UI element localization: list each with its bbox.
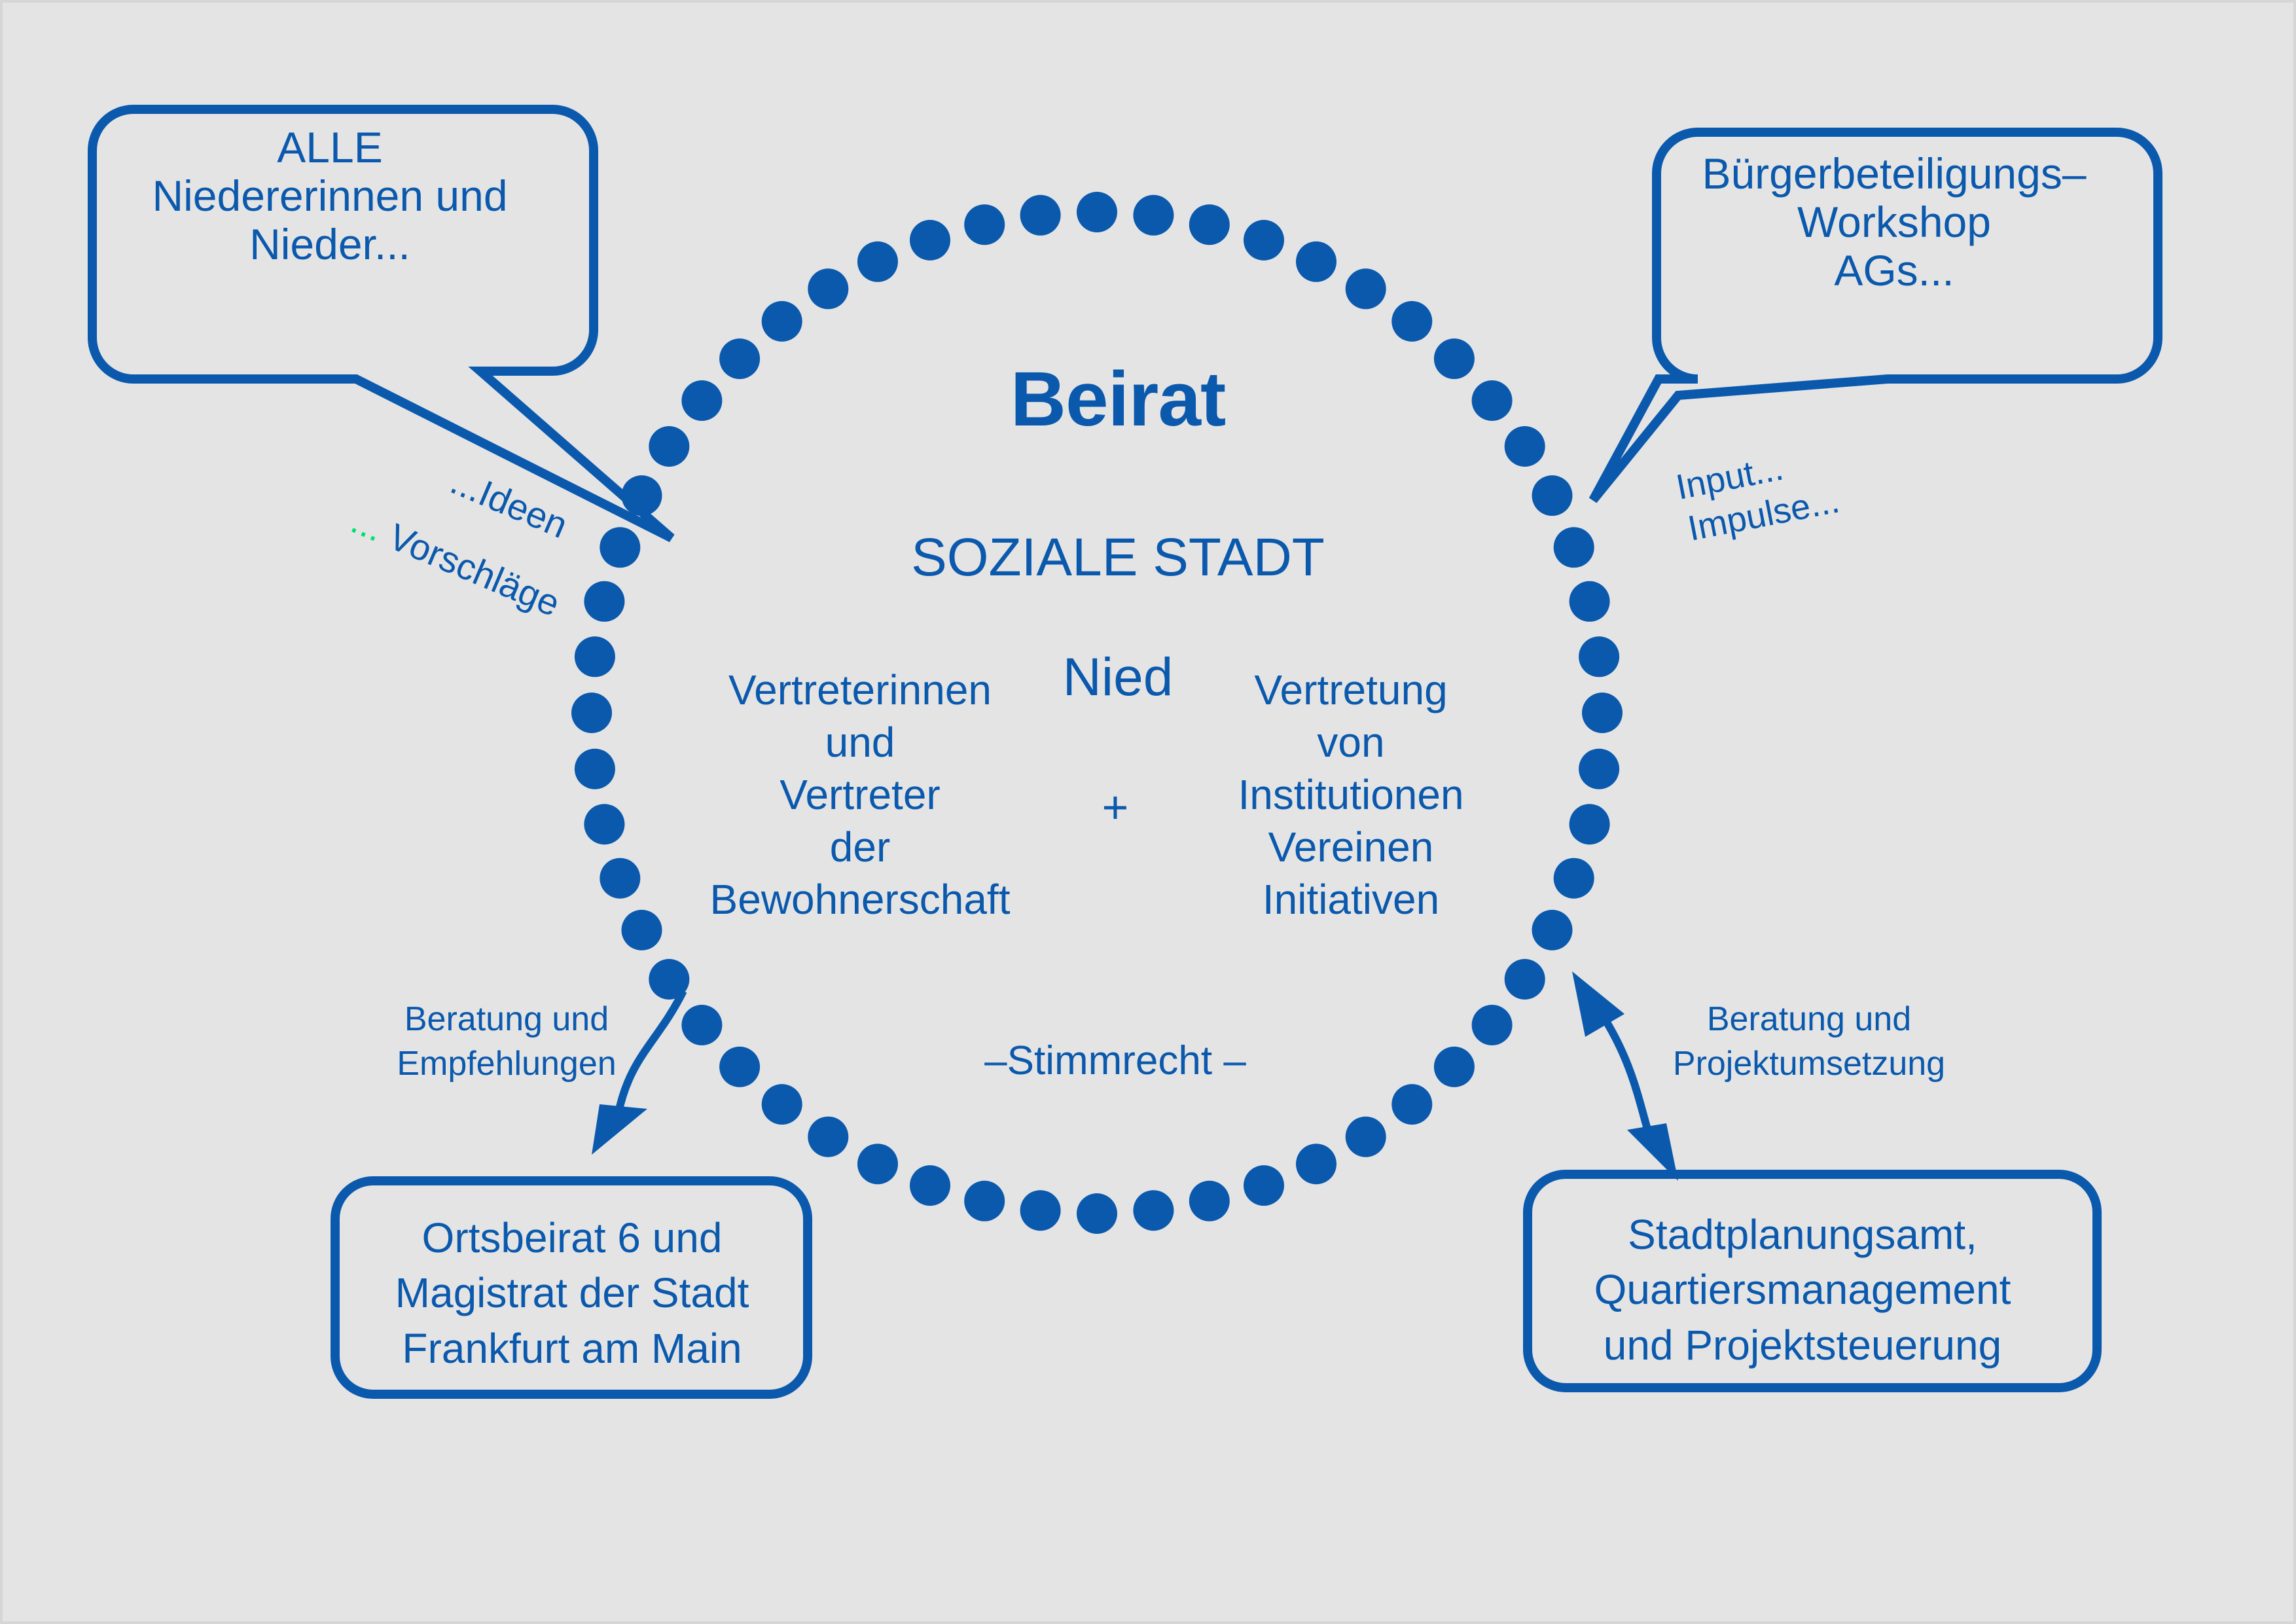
circle-dot xyxy=(1570,804,1610,844)
circle-dot xyxy=(649,959,689,1000)
circle-dot xyxy=(1505,959,1545,1000)
circle-dot xyxy=(1020,1190,1061,1231)
circle-dot xyxy=(1505,426,1545,467)
circle-dot xyxy=(584,804,624,844)
center-plus-operator: + xyxy=(1076,782,1155,833)
circle-dot xyxy=(910,220,950,261)
circle-dot xyxy=(857,1144,898,1184)
circle-dot xyxy=(1472,380,1513,421)
circle-dot xyxy=(857,242,898,282)
circle-dot xyxy=(762,1084,802,1125)
box-bottom-left-label: Ortsbeirat 6 und Magistrat der Stadt Fra… xyxy=(343,1210,801,1376)
circle-dot xyxy=(1020,195,1061,236)
circle-dot xyxy=(1391,301,1432,342)
box-bottom-right-label: Stadtplanungsamt, Quartiersmanagement un… xyxy=(1541,1207,2064,1373)
circle-dot xyxy=(1554,858,1594,899)
circle-dot xyxy=(622,475,662,516)
circle-dot xyxy=(622,910,662,950)
circle-dot xyxy=(649,426,689,467)
circle-dot xyxy=(1077,1193,1117,1234)
circle-dot xyxy=(1346,268,1386,309)
circle-dot xyxy=(808,268,848,309)
circle-dot xyxy=(1434,1047,1475,1087)
circle-dot xyxy=(1554,527,1594,568)
center-column-right: Vertretung von Institutionen Vereinen In… xyxy=(1194,664,1508,926)
flow-label-beratung-empfehlungen: Beratung und Empfehlungen xyxy=(369,998,644,1086)
circle-dot xyxy=(1346,1117,1386,1157)
circle-dot xyxy=(600,858,640,899)
diagram-canvas: .stroke{ fill:none; stroke:#0B59AD; stro… xyxy=(0,0,2296,1624)
center-heading: Beirat xyxy=(791,356,1445,442)
circle-dot xyxy=(910,1165,950,1206)
circle-dot xyxy=(571,693,612,733)
circle-dot xyxy=(681,1005,722,1045)
circle-dot xyxy=(575,749,615,789)
circle-dot xyxy=(1296,1144,1336,1184)
circle-dot xyxy=(1189,1181,1230,1221)
bubble-top-left-label: ALLE Niedererinnen und Nieder... xyxy=(101,124,559,269)
circle-dot xyxy=(1189,204,1230,245)
bubble-top-right-label: Bürgerbeteiligungs– Workshop AGs... xyxy=(1665,150,2123,295)
center-column-left: Vertreterinnen und Vertreter der Bewohne… xyxy=(683,664,1037,926)
circle-dot xyxy=(1532,910,1573,950)
circle-dot xyxy=(1570,581,1610,622)
circle-dot xyxy=(1582,693,1623,733)
circle-dot xyxy=(681,380,722,421)
circle-dot xyxy=(808,1117,848,1157)
circle-dot xyxy=(964,204,1005,245)
circle-dot xyxy=(1579,636,1619,677)
circle-dot xyxy=(1133,195,1174,236)
circle-dot xyxy=(1077,192,1117,232)
circle-dot xyxy=(1133,1190,1174,1231)
circle-dot xyxy=(719,338,760,379)
circle-dot xyxy=(1472,1005,1513,1045)
center-footnote-stimmrecht: –Stimmrecht – xyxy=(919,1038,1312,1083)
circle-dot xyxy=(1391,1084,1432,1125)
flow-label-beratung-projektumsetzung: Beratung und Projektumsetzung xyxy=(1645,998,1973,1086)
circle-dot xyxy=(1579,749,1619,789)
center-subheading-line1: SOZIALE STADT xyxy=(791,528,1445,588)
circle-dot xyxy=(1244,1165,1284,1206)
circle-dot xyxy=(1244,220,1284,261)
circle-dot xyxy=(762,301,802,342)
circle-dot xyxy=(1532,475,1573,516)
circle-dot xyxy=(964,1181,1005,1221)
circle-dot xyxy=(1296,242,1336,282)
circle-dot xyxy=(719,1047,760,1087)
